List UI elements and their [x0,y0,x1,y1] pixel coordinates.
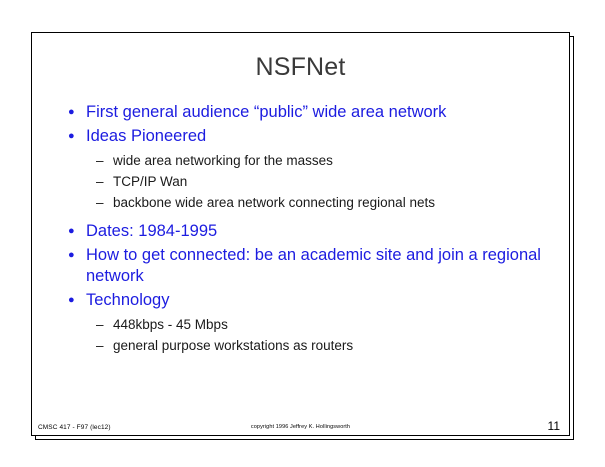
bullet-item: ●First general audience “public” wide ar… [68,102,551,123]
bullet-marker-icon: ● [68,126,86,147]
dash-marker-icon: – [96,151,113,171]
sub-bullet-text: general purpose workstations as routers [113,336,551,356]
bullet-marker-icon: ● [68,102,86,123]
sub-bullet-item: –wide area networking for the masses [68,151,551,171]
bullet-item: ●How to get connected: be an academic si… [68,245,551,287]
bullet-text: Dates: 1984-1995 [86,221,551,242]
sub-bullet-item: –general purpose workstations as routers [68,336,551,356]
dash-marker-icon: – [96,315,113,335]
dash-marker-icon: – [96,172,113,192]
sub-bullet-text: wide area networking for the masses [113,151,551,171]
dash-marker-icon: – [96,193,113,213]
dash-marker-icon: – [96,336,113,356]
sub-bullet-item: –TCP/IP Wan [68,172,551,192]
bullet-text: Technology [86,290,551,311]
sub-bullet-text: backbone wide area network connecting re… [113,193,551,213]
bullet-item: ●Technology [68,290,551,311]
bullet-text: Ideas Pioneered [86,126,551,147]
sub-bullet-text: 448kbps - 45 Mbps [113,315,551,335]
bullet-marker-icon: ● [68,221,86,242]
sub-bullet-item: –backbone wide area network connecting r… [68,193,551,213]
slide-frame: NSFNet ●First general audience “public” … [31,32,570,436]
footer-copyright-label: copyright 1996 Jeffrey K. Hollingsworth [33,424,568,430]
bullet-text: How to get connected: be an academic sit… [86,245,551,287]
bullet-item: ●Dates: 1984-1995 [68,221,551,242]
bullet-marker-icon: ● [68,245,86,266]
bullet-text: First general audience “public” wide are… [86,102,551,123]
sub-bullet-item: –448kbps - 45 Mbps [68,315,551,335]
bullet-marker-icon: ● [68,290,86,311]
sub-bullet-text: TCP/IP Wan [113,172,551,192]
bullet-item: ●Ideas Pioneered [68,126,551,147]
slide-footer: CMSC 417 - F97 (lec12) copyright 1996 Je… [33,415,568,431]
page-title: NSFNet [32,53,569,82]
bullet-list: ●First general audience “public” wide ar… [68,102,551,357]
footer-page-number: 11 [548,419,560,433]
